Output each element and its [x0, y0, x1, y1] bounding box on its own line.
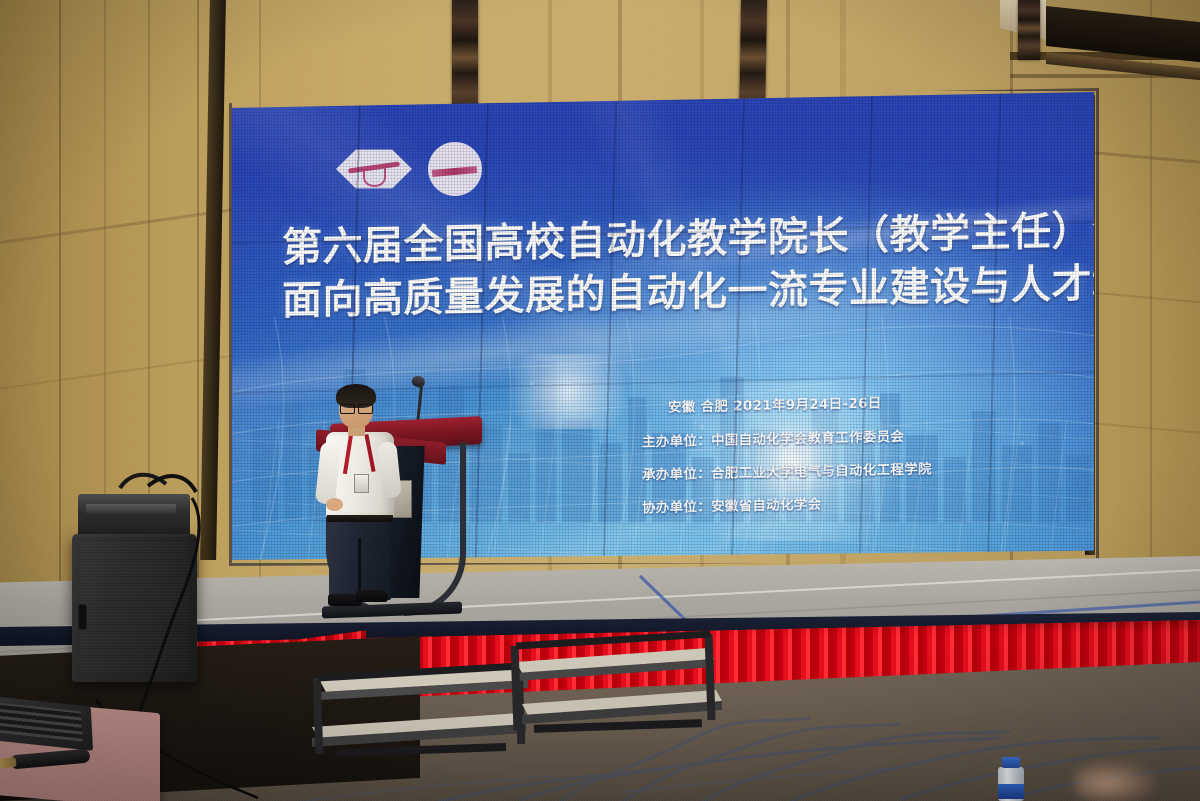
- bottle-cap: [1002, 757, 1020, 768]
- conference-title-line-2: 面向高质量发展的自动化一流专业建设与人才培养: [282, 265, 1062, 322]
- hfut-circle-logo: [428, 142, 482, 196]
- screen-info-block: 安徽 合肥 2021年9月24日-26日 主办单位：中国自动化学会教育工作委员会…: [642, 388, 1062, 530]
- host-organization: 主办单位：中国自动化学会教育工作委员会: [642, 422, 1062, 451]
- eyeglasses: [340, 404, 373, 412]
- presenter-hand: [326, 498, 343, 511]
- trouser-seam: [358, 538, 361, 596]
- conference-photo-scene: 第六届全国高校自动化教学院长（教学主任）会议 面向高质量发展的自动化一流专业建设…: [0, 0, 1200, 801]
- logo-group: [336, 138, 496, 200]
- bottle-label: [998, 784, 1024, 799]
- organizing-institution: 承办单位：合肥工业大学电气与自动化工程学院: [642, 455, 1062, 484]
- presenter-belt: [327, 515, 393, 522]
- marble-accent-strip: [1018, 0, 1040, 60]
- water-bottle: [997, 757, 1025, 801]
- screen-title-block: 第六届全国高校自动化教学院长（教学主任）会议 面向高质量发展的自动化一流专业建设…: [282, 220, 1062, 314]
- conference-title-line-1: 第六届全国高校自动化教学院长（教学主任）会议: [282, 212, 1062, 269]
- presenter-shoe-right: [356, 590, 388, 602]
- presenter: [312, 388, 422, 618]
- name-badge: [354, 474, 369, 493]
- co-organizer: 协办单位：安徽省自动化学会: [642, 488, 1062, 517]
- foreground-blur: [1075, 762, 1155, 801]
- screen-glow-secondary: [491, 354, 646, 429]
- pa-loudspeaker: [72, 534, 197, 682]
- caa-lens-logo: [336, 146, 412, 192]
- speaker-handle: [78, 604, 87, 630]
